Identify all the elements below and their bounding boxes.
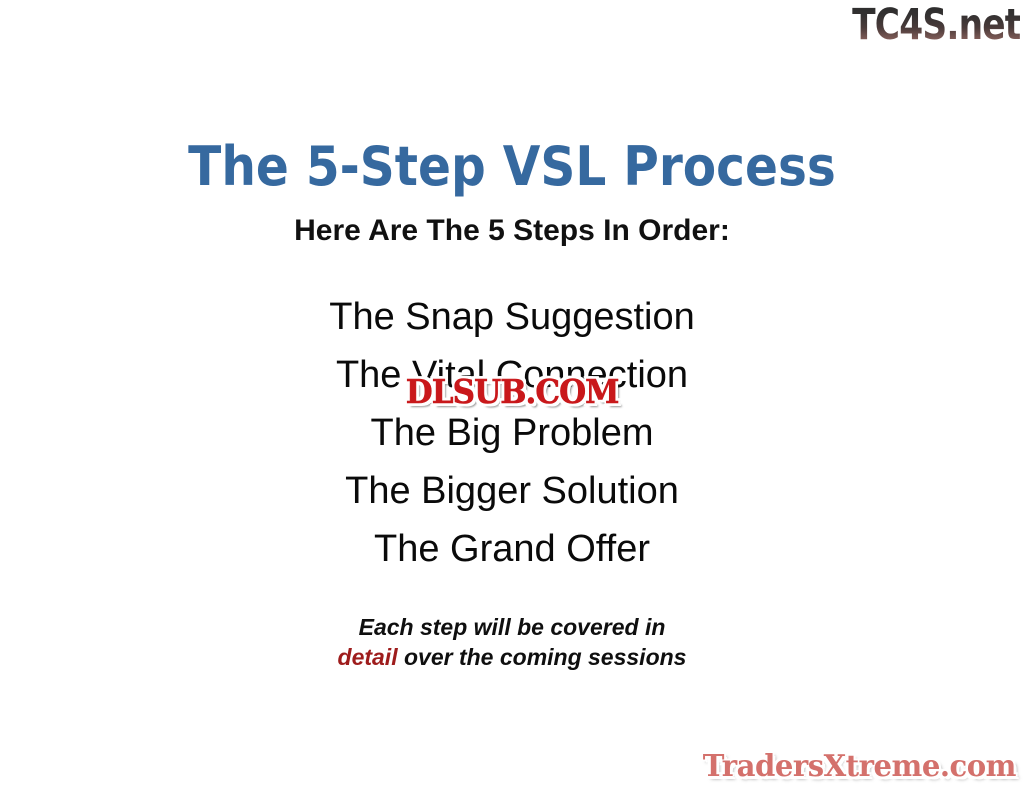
tc4s-brand-logo: TC4S.net [852,2,1020,48]
footer-note-rest: over the coming sessions [398,644,687,670]
steps-list: The Snap Suggestion The Vital Connection… [0,288,1024,578]
list-item: The Grand Offer [0,520,1024,578]
tradersxtreme-site-logo: TradersXtreme.com [703,749,1016,785]
list-item: The Big Problem [0,404,1024,462]
footer-note-line-2: detail over the coming sessions [0,642,1024,672]
page-title: The 5-Step VSL Process [51,136,973,198]
slide-canvas: TC4S.net The 5-Step VSL Process Here Are… [0,0,1024,791]
list-item: The Vital Connection [0,346,1024,404]
footer-note-line-1: Each step will be covered in [0,612,1024,642]
list-item: The Bigger Solution [0,462,1024,520]
slide-subtitle: Here Are The 5 Steps In Order: [0,213,1024,249]
footer-note-highlight: detail [338,644,398,670]
footer-note: Each step will be covered in detail over… [0,612,1024,672]
list-item: The Snap Suggestion [0,288,1024,346]
